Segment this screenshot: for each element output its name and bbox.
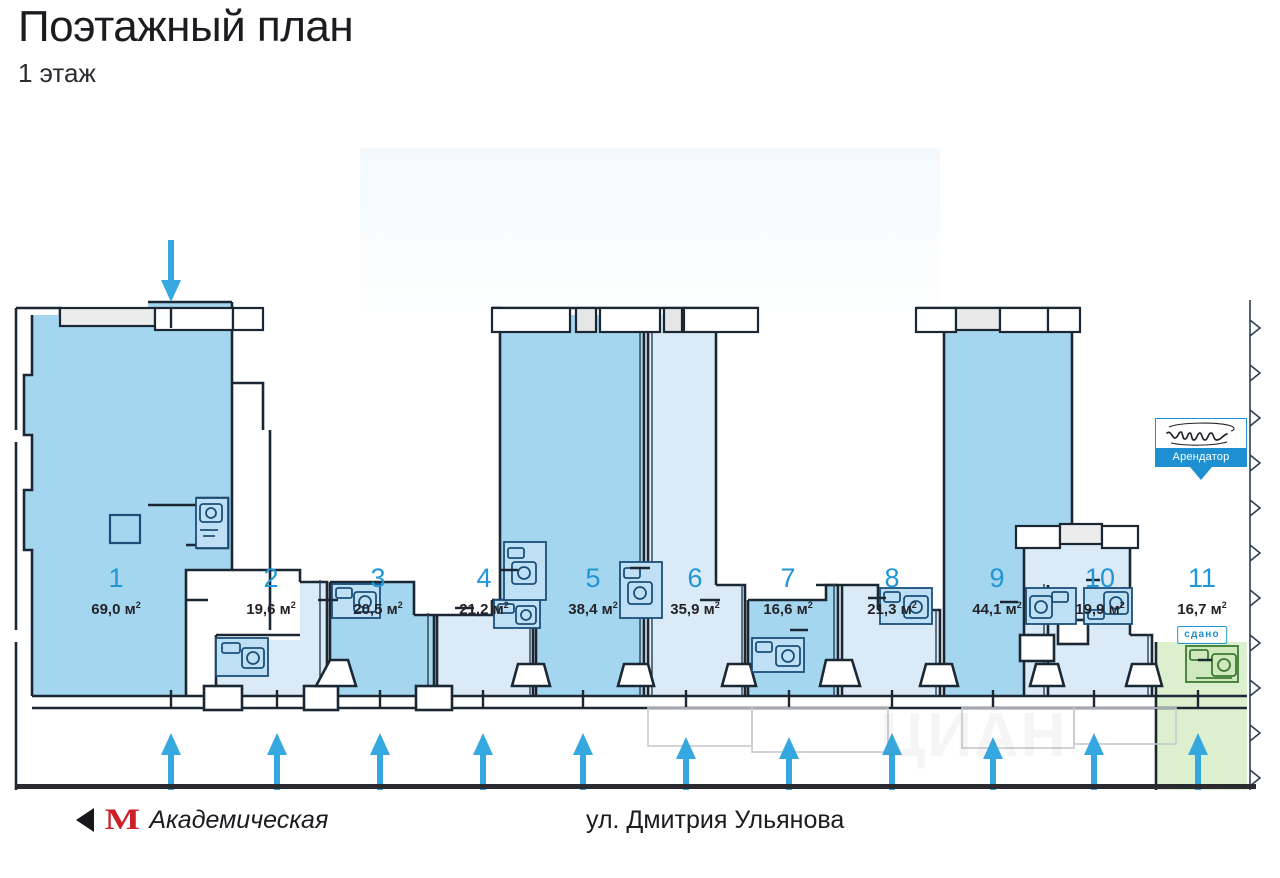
entrance-arrow-up bbox=[370, 733, 390, 790]
room-area: 21,2 м2 bbox=[459, 601, 509, 617]
tenant-pointer-icon bbox=[1190, 467, 1212, 480]
page-header: Поэтажный план 1 этаж bbox=[18, 4, 353, 89]
room-label-11[interactable]: 11 16,7 м2 сдано bbox=[1177, 565, 1227, 644]
page-title: Поэтажный план bbox=[18, 4, 353, 50]
bathroom-fixture-group bbox=[1186, 646, 1238, 682]
room-number: 8 bbox=[867, 565, 917, 592]
tenant-label: Арендатор bbox=[1155, 448, 1247, 467]
tenant-script-logo-icon bbox=[1161, 421, 1241, 447]
bathroom-fixture-group bbox=[216, 638, 268, 676]
room-label-9[interactable]: 9 44,1 м2 bbox=[972, 565, 1022, 617]
room-label-10[interactable]: 10 19,9 м2 bbox=[1075, 565, 1125, 617]
room-label-1[interactable]: 1 69,0 м2 bbox=[91, 565, 141, 617]
room-area: 35,9 м2 bbox=[670, 601, 720, 617]
room-number: 7 bbox=[763, 565, 813, 592]
room-number: 10 bbox=[1075, 565, 1125, 592]
room-number: 9 bbox=[972, 565, 1022, 592]
room-label-7[interactable]: 7 16,6 м2 bbox=[763, 565, 813, 617]
room-area: 44,1 м2 bbox=[972, 601, 1022, 617]
room-number: 4 bbox=[459, 565, 509, 592]
tenant-marker[interactable]: Арендатор bbox=[1155, 418, 1247, 480]
floorplan-page: Поэтажный план 1 этаж bbox=[0, 0, 1280, 878]
entrance-arrow-up bbox=[161, 733, 181, 790]
room-label-6[interactable]: 6 35,9 м2 bbox=[670, 565, 720, 617]
street-line bbox=[16, 784, 1256, 789]
room-area: 16,7 м2 bbox=[1177, 601, 1227, 617]
room-label-8[interactable]: 8 21,3 м2 bbox=[867, 565, 917, 617]
room-number: 6 bbox=[670, 565, 720, 592]
tenant-logo bbox=[1155, 418, 1247, 448]
entrance-arrow-up bbox=[267, 733, 287, 790]
room-number: 11 bbox=[1177, 565, 1227, 592]
room-number: 1 bbox=[91, 565, 141, 592]
bathroom-fixture-group bbox=[752, 638, 804, 672]
street-label: ул. Дмитрия Ульянова bbox=[586, 806, 844, 835]
bathroom-fixture-group bbox=[196, 498, 228, 548]
status-badge: сдано bbox=[1177, 626, 1227, 644]
page-footer: М Академическая ул. Дмитрия Ульянова bbox=[0, 790, 1280, 878]
room-area: 69,0 м2 bbox=[91, 601, 141, 617]
entrance-arrow-down bbox=[161, 240, 181, 302]
room-number: 5 bbox=[568, 565, 618, 592]
entrance-arrow-up bbox=[473, 733, 493, 790]
entrance-arrow-up bbox=[882, 733, 902, 790]
room-area: 38,4 м2 bbox=[568, 601, 618, 617]
room-area: 16,6 м2 bbox=[763, 601, 813, 617]
metro-info[interactable]: М Академическая bbox=[76, 805, 328, 835]
entrance-arrow-up bbox=[1084, 733, 1104, 790]
entrance-arrow-up bbox=[983, 737, 1003, 790]
room-number: 3 bbox=[353, 565, 403, 592]
room-area: 19,6 м2 bbox=[246, 601, 296, 617]
entrance-arrow-up bbox=[573, 733, 593, 790]
room-label-3[interactable]: 3 20,5 м2 bbox=[353, 565, 403, 617]
floorplan-drawing bbox=[0, 130, 1280, 790]
room-number: 2 bbox=[246, 565, 296, 592]
room-area: 20,5 м2 bbox=[353, 601, 403, 617]
background-tint bbox=[360, 148, 940, 313]
metro-m-logo-icon: М bbox=[105, 805, 139, 835]
room-label-4[interactable]: 4 21,2 м2 bbox=[459, 565, 509, 617]
room-fill-6[interactable] bbox=[648, 315, 745, 696]
floor-subtitle: 1 этаж bbox=[18, 58, 353, 89]
bathroom-fixture-group bbox=[1026, 588, 1076, 624]
entrance-arrow-up bbox=[779, 737, 799, 790]
entrance-arrow-up bbox=[676, 737, 696, 790]
left-triangle-icon bbox=[76, 808, 94, 832]
section-break-line bbox=[1250, 300, 1260, 790]
room-area: 21,3 м2 bbox=[867, 601, 917, 617]
room-label-5[interactable]: 5 38,4 м2 bbox=[568, 565, 618, 617]
bathroom-fixture-group bbox=[620, 562, 662, 618]
room-label-2[interactable]: 2 19,6 м2 bbox=[246, 565, 296, 617]
metro-station-name: Академическая bbox=[149, 806, 328, 835]
room-area: 19,9 м2 bbox=[1075, 601, 1125, 617]
